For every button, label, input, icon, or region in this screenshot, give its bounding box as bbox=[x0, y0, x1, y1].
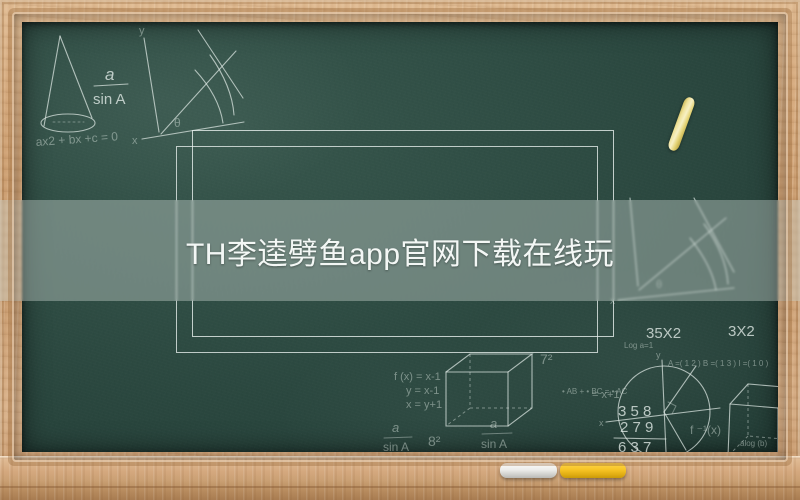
chalk-text-sina-den-topleft: sin A bbox=[93, 91, 126, 108]
chalk-label-y-circle: y bbox=[656, 350, 661, 360]
chalk-text-sina-den-b1: sin A bbox=[383, 440, 409, 452]
cube-diagram-center bbox=[446, 354, 532, 426]
chalk-text-add-row2: 2 7 9 bbox=[620, 419, 653, 436]
chalk-text-add-row1: 3 5 8 bbox=[618, 403, 651, 420]
chalk-label-x-left: x bbox=[132, 135, 138, 147]
blackboard-banner-image: a sin A ax2 + bx +c = 0 y x θ bbox=[0, 0, 800, 500]
chalk-text-matrix-row: A =( 1 2 ) B =( 1 3 ) I =( 1 0 ) bbox=[668, 359, 769, 368]
chalk-text-log: Log a=1 bbox=[624, 341, 654, 350]
chalk-text-3x2: 3X2 bbox=[728, 323, 755, 340]
chalk-text-a-num-b2: a bbox=[490, 416, 497, 431]
chalk-text-alog: alog (b) bbox=[740, 439, 767, 448]
white-chalk-piece bbox=[500, 463, 557, 478]
function-equations-group: f (x) = x-1 y = x-1 x = y+1 bbox=[394, 371, 442, 411]
chalk-text-add-row3: 6 3 7 bbox=[618, 439, 651, 452]
chalk-text-7-squared: 7² bbox=[540, 351, 553, 367]
chalk-text-a-num-b1: a bbox=[392, 420, 399, 435]
chalk-label-theta-left: θ bbox=[174, 116, 181, 130]
chalk-label-y-left: y bbox=[139, 25, 145, 37]
chalk-text-fxy: x = y+1 bbox=[406, 399, 442, 411]
chalk-text-inverse-fn: f ⁻¹(x) bbox=[690, 423, 721, 437]
tray-lip-highlight bbox=[0, 456, 800, 459]
chalk-text-sina-den-b2: sin A bbox=[481, 437, 507, 451]
chalk-text-fx: f (x) = x-1 bbox=[394, 371, 441, 383]
cone-diagram bbox=[41, 36, 95, 132]
tray-wood-grain bbox=[0, 456, 800, 500]
chalk-text-8-squared: 8² bbox=[428, 433, 441, 449]
yellow-chalk-piece bbox=[560, 463, 626, 478]
chalk-text-quadratic: ax2 + bx +c = 0 bbox=[35, 129, 118, 149]
chalk-text-35x2: 35X2 bbox=[646, 325, 681, 342]
chalk-text-fy: y = x-1 bbox=[406, 385, 439, 397]
tray-shadow-line bbox=[0, 486, 800, 488]
page-title: TH李逵劈鱼app官网下载在线玩 bbox=[0, 200, 800, 301]
angle-axes-diagram-left: y x θ bbox=[132, 25, 244, 147]
chalk-text-a-num-topleft: a bbox=[105, 65, 114, 84]
chalk-label-x-circle: x bbox=[599, 418, 604, 428]
chalk-tray bbox=[0, 456, 800, 500]
chalk-text-eq-xplus1: = x+1 bbox=[592, 389, 620, 401]
